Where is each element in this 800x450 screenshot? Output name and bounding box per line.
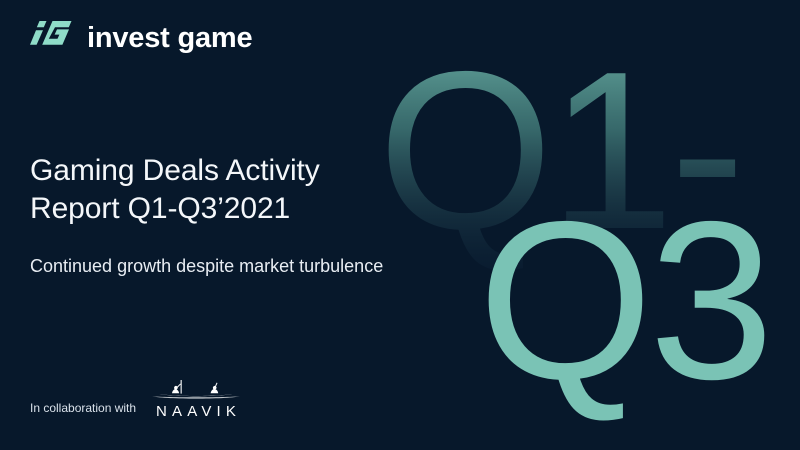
brand-lockup: invest game [30, 21, 252, 55]
partner-wordmark: NAAVIK [151, 404, 241, 419]
page-subtitle: Continued growth despite market turbulen… [30, 228, 400, 279]
canoe-paddlers-icon [150, 378, 242, 402]
collaboration-credit: In collaboration with NAAVIK [30, 378, 242, 419]
collaboration-label: In collaboration with [30, 402, 136, 419]
brand-wordmark: invest game [87, 24, 252, 53]
decorative-text-q3: Q3 [478, 174, 770, 426]
title-slide: Q1- Q3 invest game Gaming Deals Activity… [0, 0, 800, 450]
ig-monogram-icon [30, 21, 74, 55]
page-title: Gaming Deals Activity Report Q1-Q3’2021 [30, 152, 450, 228]
partner-logo: NAAVIK [150, 378, 242, 419]
headline-block: Gaming Deals Activity Report Q1-Q3’2021 … [30, 152, 450, 279]
